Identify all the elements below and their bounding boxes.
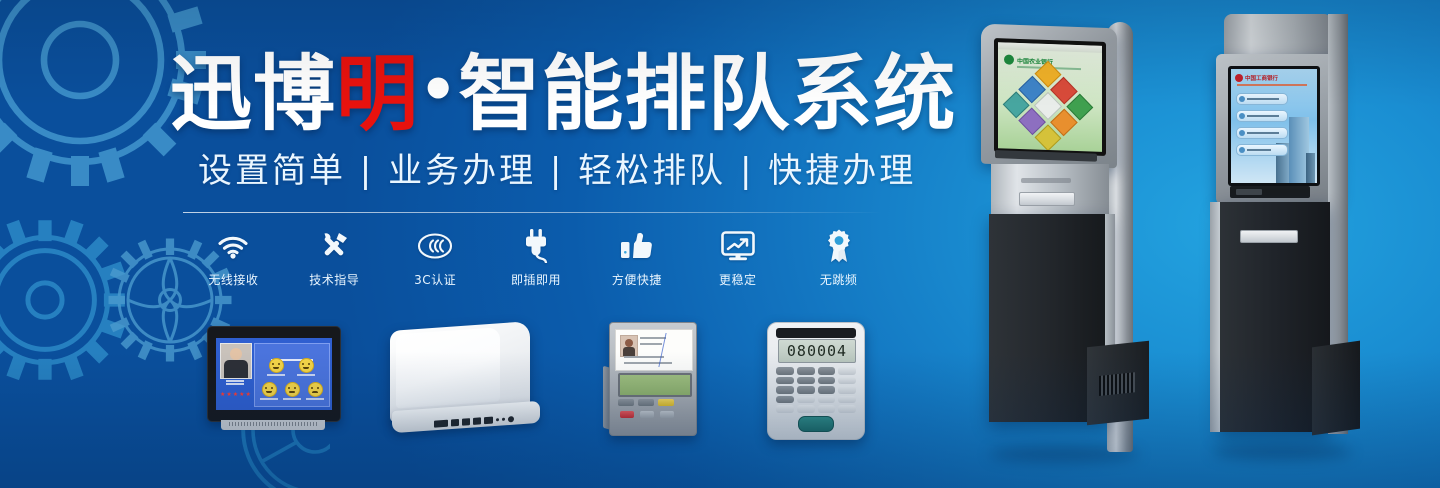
menu-item-label [1247, 98, 1279, 100]
keypad-key[interactable] [797, 396, 815, 404]
kiosk-head-panel: 中国农业银行 [981, 24, 1117, 169]
staff-photo [220, 343, 252, 379]
keypad-key[interactable] [838, 405, 856, 413]
kiosk-menu-list [1236, 93, 1288, 156]
key-grey[interactable] [640, 411, 654, 418]
evaluation-heading [255, 348, 329, 366]
avatar-body [224, 360, 248, 378]
menu-item-icon [1239, 96, 1245, 102]
keypad-button-grid [776, 367, 856, 413]
feature-item-3c-certification: 3C认证 [385, 228, 486, 292]
feature-item-wireless: 无线接收 [183, 228, 284, 292]
kiosk-icbc: 中国工商银行 [1200, 14, 1365, 464]
key-red[interactable] [620, 411, 634, 418]
monitor-chart-icon [721, 228, 755, 264]
title-part-4: 智能排队系统 [458, 47, 956, 142]
keypad-key[interactable] [776, 377, 794, 385]
avatar-head [230, 348, 242, 360]
key-generic[interactable] [638, 399, 654, 406]
kiosk-screen[interactable]: 中国工商银行 [1231, 69, 1317, 183]
page-title: 迅博明•智能排队系统 [170, 42, 910, 138]
wifi-icon [216, 228, 250, 264]
kiosk-screen[interactable]: 中国农业银行 [998, 42, 1102, 152]
feature-item-convenient: 方便快捷 [586, 228, 687, 292]
kiosk-shadow [1212, 444, 1352, 460]
keypad-key[interactable] [838, 386, 856, 394]
evaluator-lcd [618, 373, 692, 397]
bank-name-sub [1237, 84, 1307, 86]
monitor-screen: ★★★★★ [216, 338, 332, 410]
feature-label: 方便快捷 [612, 271, 662, 288]
keypad-key[interactable] [818, 367, 836, 375]
kiosk-logo-plate [1021, 178, 1071, 183]
bank-name: 中国工商银行 [1245, 74, 1278, 82]
kiosk-base-box [1087, 341, 1149, 426]
feature-item-no-frequency-hopping: 无跳频 [788, 228, 889, 292]
ticket-printer-slot[interactable] [1240, 230, 1298, 243]
feature-label: 技术指导 [309, 271, 359, 288]
keypad-enter-button[interactable] [798, 416, 834, 432]
keypad-key[interactable] [838, 367, 856, 375]
menu-item-label [1247, 132, 1279, 134]
menu-item-icon [1239, 130, 1245, 136]
bank-brand: 中国工商银行 [1235, 74, 1278, 82]
title-part-highlight: 明 [336, 47, 419, 142]
feature-list: 无线接收 技术指导 [183, 228, 889, 292]
feature-label: 无跳频 [820, 271, 858, 288]
menu-item-icon [1239, 113, 1245, 119]
kiosk-screen-frame: 中国工商银行 [1228, 66, 1320, 186]
screen-titlebar [998, 42, 1102, 53]
keypad-body: 080004 [767, 322, 865, 440]
keypad-key[interactable] [818, 405, 836, 413]
evaluator-body [609, 322, 697, 436]
bank-logo-icon [1004, 54, 1014, 64]
feature-item-technical-support: 技术指导 [284, 228, 385, 292]
evaluation-panel [254, 343, 330, 407]
thumbs-up-icon [620, 228, 654, 264]
menu-item-icon [1239, 147, 1245, 153]
card-reader-mouth [1236, 189, 1262, 195]
keypad-key[interactable] [797, 377, 815, 385]
product-desk-evaluator [595, 322, 715, 440]
feature-item-stability: 更稳定 [687, 228, 788, 292]
keypad-key[interactable] [818, 386, 836, 394]
title-separator-dot: • [419, 55, 458, 125]
keypad-key[interactable] [838, 377, 856, 385]
keypad-key[interactable] [776, 386, 794, 394]
product-showcase: ★★★★★ [195, 320, 895, 450]
tools-icon [318, 228, 350, 264]
keypad-display: 080004 [778, 339, 856, 363]
emoji-satisfied[interactable] [299, 358, 314, 373]
staff-info-card [615, 329, 693, 371]
promo-banner: 迅博明•智能排队系统 设置简单 | 业务办理 | 轻松排队 | 快捷办理 无 [0, 0, 1440, 488]
feature-label: 即插即用 [511, 271, 561, 288]
feature-label: 更稳定 [719, 271, 757, 288]
kiosk-abc: 中国农业银行 [975, 22, 1150, 462]
ccc-certification-icon [417, 228, 453, 264]
kiosk-neck [991, 164, 1109, 216]
emoji-neutral[interactable] [285, 382, 300, 397]
keypad-display-value: 080004 [787, 342, 847, 360]
menu-item-label [1247, 115, 1279, 117]
bank-logo-icon [1235, 74, 1243, 82]
menu-item[interactable] [1236, 127, 1288, 139]
award-ribbon-icon [826, 228, 852, 264]
star-rating: ★★★★★ [220, 391, 250, 398]
feature-label: 无线接收 [208, 271, 258, 288]
avatar-head [625, 339, 633, 347]
emoji-very-satisfied[interactable] [269, 358, 284, 373]
product-evaluation-monitor: ★★★★★ [195, 320, 355, 435]
feature-label: 3C认证 [414, 271, 456, 288]
menu-item-label [1247, 149, 1271, 151]
kiosk-head-panel: 中国工商银行 [1216, 54, 1340, 204]
evaluator-keypad [616, 397, 690, 429]
emoji-basic-satisfied[interactable] [262, 382, 277, 397]
menu-item[interactable] [1236, 144, 1288, 156]
feature-item-plug-and-play: 即插即用 [486, 228, 587, 292]
staff-name-block [220, 379, 250, 387]
divider [183, 212, 883, 213]
key-yellow[interactable] [658, 399, 674, 406]
keypad-key[interactable] [818, 377, 836, 385]
kiosk-screen-frame: 中国农业银行 [994, 38, 1106, 156]
banner-content: 迅博明•智能排队系统 设置简单 | 业务办理 | 轻松排队 | 快捷办理 无 [0, 0, 920, 488]
power-plug-icon [521, 228, 551, 264]
keypad-key[interactable] [776, 396, 794, 404]
keypad-key[interactable] [797, 367, 815, 375]
keypad-speaker-strip [776, 328, 856, 338]
kiosk-base-box [1312, 341, 1360, 436]
keypad-key[interactable] [818, 396, 836, 404]
keypad-key[interactable] [838, 396, 856, 404]
ticket-printer-slot[interactable] [1019, 192, 1075, 206]
kiosk-body-left-edge [1210, 202, 1220, 432]
menu-item[interactable] [1236, 93, 1288, 105]
product-wireless-router [390, 324, 550, 439]
kiosk-menu-grid [1003, 61, 1094, 152]
title-part-1: 迅博 [170, 47, 336, 142]
card-accent-line [658, 333, 692, 367]
keypad-key[interactable] [776, 405, 794, 413]
monitor-vent [229, 422, 317, 426]
emoji-label [267, 374, 285, 376]
keypad-key[interactable] [797, 386, 815, 394]
card-reader-slot[interactable] [1230, 186, 1310, 198]
emoji-unsatisfied[interactable] [308, 382, 323, 397]
keypad-key[interactable] [776, 367, 794, 375]
avatar-body [623, 347, 635, 356]
router-face [396, 327, 500, 408]
emoji-label [260, 398, 278, 400]
keypad-key[interactable] [797, 405, 815, 413]
monitor-bezel: ★★★★★ [207, 326, 341, 422]
emoji-label [297, 374, 315, 376]
emoji-label [306, 398, 324, 400]
key-generic[interactable] [618, 399, 634, 406]
emoji-label [283, 398, 301, 400]
staff-photo [620, 335, 638, 357]
product-handheld-keypad: 080004 [767, 322, 877, 442]
key-grey[interactable] [660, 411, 674, 418]
kiosk-vent [1099, 372, 1135, 396]
menu-item[interactable] [1236, 110, 1288, 122]
page-subtitle: 设置简单 | 业务办理 | 轻松排队 | 快捷办理 [198, 148, 898, 194]
